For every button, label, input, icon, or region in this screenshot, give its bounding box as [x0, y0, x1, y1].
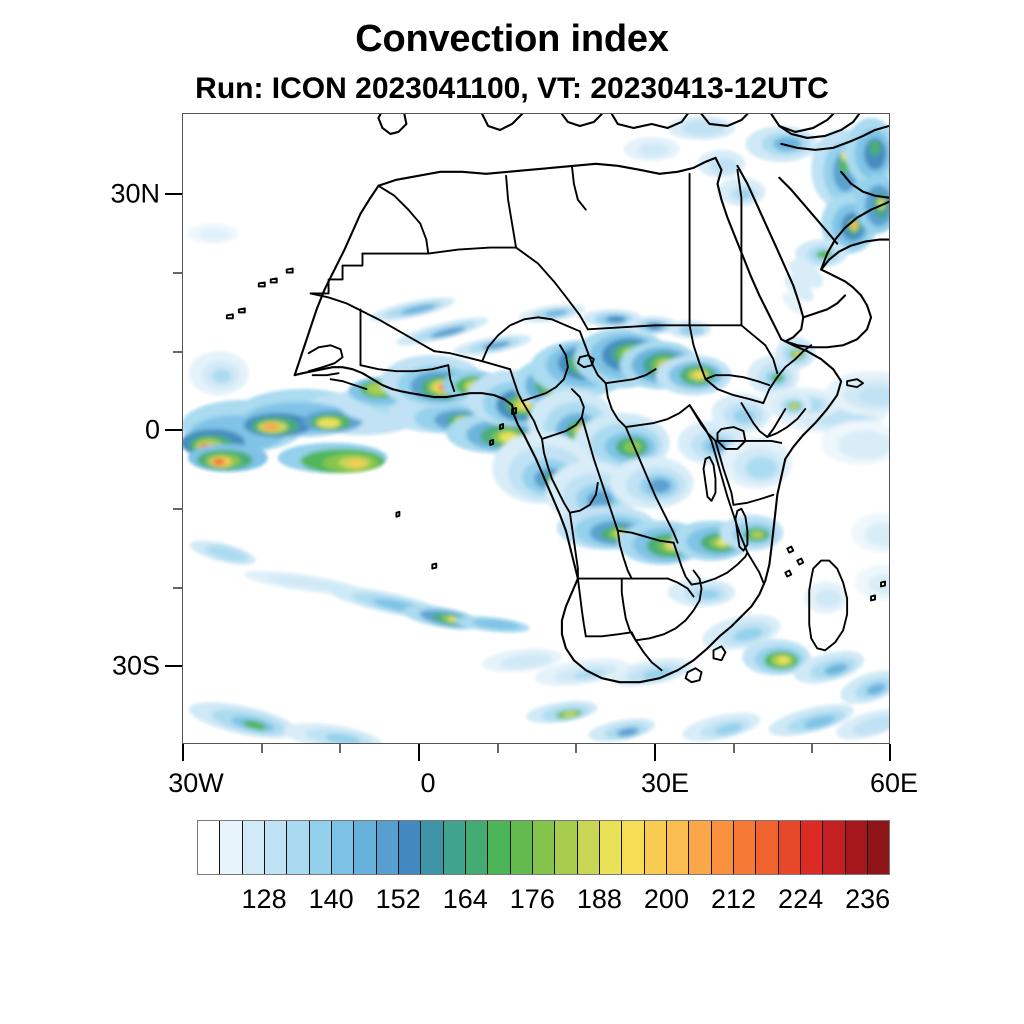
colorbar-cell-23: [712, 821, 734, 874]
x-tick-minor-10e: [497, 744, 499, 753]
y-tick-major-30n: [165, 193, 182, 195]
colorbar-cell-3: [265, 821, 287, 874]
colorbar-cell-30: [868, 821, 889, 874]
colorbar-cell-5: [310, 821, 332, 874]
colorbar-cell-28: [823, 821, 845, 874]
colorbar-label-236: 236: [845, 884, 890, 915]
y-tick-major-0: [165, 429, 182, 431]
convection-index-figure: Convection index Run: ICON 2023041100, V…: [0, 0, 1024, 1024]
colorbar[interactable]: [197, 820, 890, 875]
colorbar-cell-26: [779, 821, 801, 874]
x-axis-label-0: 0: [420, 768, 435, 799]
x-tick-major-30e: [654, 744, 656, 761]
y-axis-label-0: 0: [60, 415, 160, 446]
colorbar-cell-7: [354, 821, 376, 874]
colorbar-cell-20: [645, 821, 667, 874]
colorbar-cell-10: [421, 821, 443, 874]
x-tick-minor-40e: [733, 744, 735, 753]
y-axis-label-30s: 30S: [60, 651, 160, 682]
colorbar-cell-19: [622, 821, 644, 874]
colorbar-cell-13: [488, 821, 510, 874]
y-tick-minor-20n: [173, 272, 182, 274]
colorbar-cell-29: [846, 821, 868, 874]
colorbar-cell-16: [555, 821, 577, 874]
colorbar-label-224: 224: [778, 884, 823, 915]
x-axis-label-30e: 30E: [641, 768, 689, 799]
colorbar-label-212: 212: [711, 884, 756, 915]
run-valid-time-subtitle: Run: ICON 2023041100, VT: 20230413-12UTC: [0, 72, 1024, 106]
colorbar-cell-9: [399, 821, 421, 874]
x-tick-major-0: [418, 744, 420, 761]
colorbar-cell-24: [734, 821, 756, 874]
map-plot-area[interactable]: [182, 113, 890, 744]
x-tick-minor-20w: [261, 744, 263, 753]
colorbar-cell-12: [466, 821, 488, 874]
x-tick-minor-10w: [339, 744, 341, 753]
y-tick-major-30s: [165, 665, 182, 667]
colorbar-cell-1: [220, 821, 242, 874]
colorbar-tick-labels: 128140152164176188200212224236: [197, 884, 890, 920]
y-tick-minor-10s: [173, 508, 182, 510]
colorbar-label-200: 200: [644, 884, 689, 915]
x-tick-minor-20e: [575, 744, 577, 753]
colorbar-cells[interactable]: [197, 820, 890, 875]
colorbar-label-152: 152: [376, 884, 421, 915]
colorbar-label-176: 176: [510, 884, 555, 915]
x-tick-minor-50e: [811, 744, 813, 753]
x-axis-label-60e: 60E: [870, 768, 918, 799]
y-tick-minor-10n: [173, 351, 182, 353]
colorbar-cell-14: [511, 821, 533, 874]
colorbar-cell-4: [287, 821, 309, 874]
colorbar-label-128: 128: [242, 884, 287, 915]
colorbar-cell-18: [600, 821, 622, 874]
colorbar-cell-8: [377, 821, 399, 874]
colorbar-cell-17: [578, 821, 600, 874]
y-tick-minor-20s: [173, 587, 182, 589]
colorbar-label-164: 164: [443, 884, 488, 915]
page-title: Convection index: [0, 18, 1024, 61]
colorbar-cell-27: [801, 821, 823, 874]
colorbar-cell-6: [332, 821, 354, 874]
x-tick-major-60e: [889, 744, 891, 761]
africa-convection-map: [183, 114, 889, 743]
colorbar-cell-21: [667, 821, 689, 874]
colorbar-label-140: 140: [309, 884, 354, 915]
colorbar-cell-22: [689, 821, 711, 874]
y-axis-label-30n: 30N: [60, 179, 160, 210]
colorbar-cell-25: [756, 821, 778, 874]
x-tick-major-30w: [182, 744, 184, 761]
colorbar-cell-2: [243, 821, 265, 874]
colorbar-cell-11: [444, 821, 466, 874]
colorbar-cell-0: [198, 821, 220, 874]
colorbar-label-188: 188: [577, 884, 622, 915]
x-axis-label-30w: 30W: [168, 768, 224, 799]
colorbar-cell-15: [533, 821, 555, 874]
